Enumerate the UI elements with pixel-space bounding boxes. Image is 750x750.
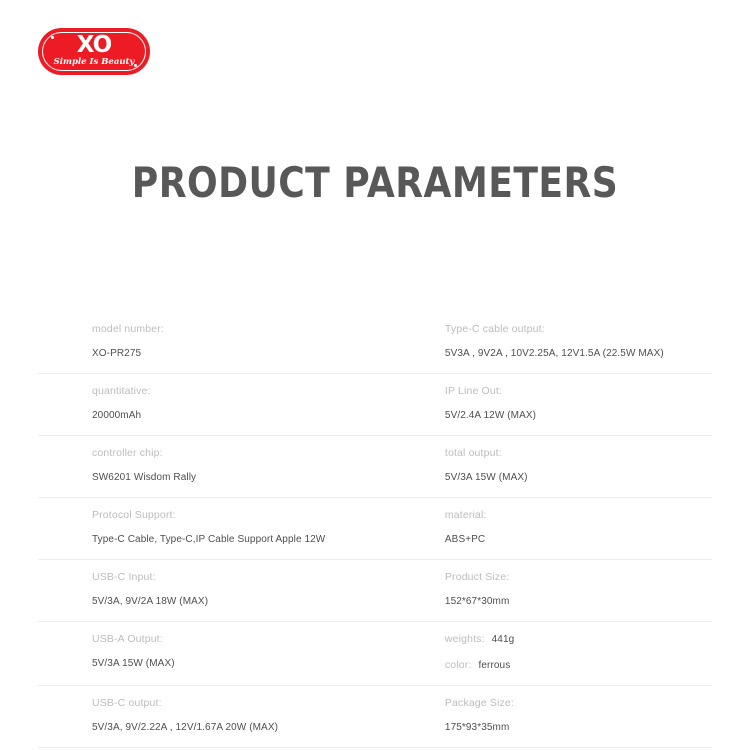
spec-cell-right: weights:441gcolor:ferrous: [429, 622, 712, 685]
spec-value: ABS+PC: [445, 532, 712, 547]
spec-value: 5V/3A, 9V/2A 18W (MAX): [92, 594, 429, 609]
spec-label: quantitative:: [92, 384, 429, 399]
spec-cell-left: Protocol Support:Type-C Cable, Type-C,IP…: [38, 498, 429, 559]
spec-value: 5V/2.4A 12W (MAX): [445, 408, 712, 423]
logo-tagline: Simple Is Beauty: [38, 57, 150, 67]
spec-value: XO-PR275: [92, 346, 429, 361]
spec-cell-left: quantitative:20000mAh: [38, 374, 429, 435]
spec-cell-left: controller chip:SW6201 Wisdom Rally: [38, 436, 429, 497]
spec-label: weights:: [445, 632, 485, 646]
spec-value: 5V/3A, 9V/2.22A , 12V/1.67A 20W (MAX): [92, 720, 429, 735]
spec-cell-right: Type-C cable output:5V3A , 9V2A , 10V2.2…: [429, 312, 712, 373]
spec-cell-right: material:ABS+PC: [429, 498, 712, 559]
spec-value: Type-C Cable, Type-C,IP Cable Support Ap…: [92, 532, 429, 547]
spec-cell-left: model number:XO-PR275: [38, 312, 429, 373]
logo-wordmark: XO: [38, 34, 150, 57]
spec-label: Product Size:: [445, 570, 712, 585]
spec-row: USB-C output:5V/3A, 9V/2.22A , 12V/1.67A…: [38, 685, 712, 747]
spec-cell-left: USB-A Output:5V/3A 15W (MAX): [38, 622, 429, 685]
spec-label: material:: [445, 508, 712, 523]
spec-label: controller chip:: [92, 446, 429, 461]
spec-value: 20000mAh: [92, 408, 429, 423]
brand-logo: XO Simple Is Beauty: [38, 28, 150, 75]
spec-row: quantitative:20000mAhIP Line Out:5V/2.4A…: [38, 373, 712, 435]
spec-label: color:: [445, 658, 472, 672]
spec-label: USB-A Output:: [92, 632, 429, 647]
spec-label: total output:: [445, 446, 712, 461]
spec-value: 5V3A , 9V2A , 10V2.25A, 12V1.5A (22.5W M…: [445, 346, 712, 361]
spec-label: Type-C cable output:: [445, 322, 712, 337]
spec-label: Protocol Support:: [92, 508, 429, 523]
specification-table: model number:XO-PR275Type-C cable output…: [38, 312, 712, 748]
spec-label: model number:: [92, 322, 429, 337]
spec-value: 175*93*35mm: [445, 720, 712, 735]
page-title: PRODUCT PARAMETERS: [53, 158, 698, 207]
spec-value: SW6201 Wisdom Rally: [92, 470, 429, 485]
spec-value: 441g: [492, 633, 515, 647]
spec-label: IP Line Out:: [445, 384, 712, 399]
spec-inline-pair: weights:441g: [445, 632, 712, 647]
spec-value: 5V/3A 15W (MAX): [445, 470, 712, 485]
spec-cell-right: Product Size:152*67*30mm: [429, 560, 712, 621]
spec-cell-right: Package Size:175*93*35mm: [429, 686, 712, 747]
spec-row: model number:XO-PR275Type-C cable output…: [38, 312, 712, 373]
spec-cell-left: USB-C Input:5V/3A, 9V/2A 18W (MAX): [38, 560, 429, 621]
spec-cell-right: total output:5V/3A 15W (MAX): [429, 436, 712, 497]
spec-row: Protocol Support:Type-C Cable, Type-C,IP…: [38, 497, 712, 559]
spec-row: USB-A Output:5V/3A 15W (MAX)weights:441g…: [38, 621, 712, 685]
spec-label: USB-C Input:: [92, 570, 429, 585]
spec-label: USB-C output:: [92, 696, 429, 711]
spec-row: controller chip:SW6201 Wisdom Rallytotal…: [38, 435, 712, 497]
spec-cell-left: USB-C output:5V/3A, 9V/2.22A , 12V/1.67A…: [38, 686, 429, 747]
spec-inline-pair: color:ferrous: [445, 658, 712, 673]
spec-cell-right: IP Line Out:5V/2.4A 12W (MAX): [429, 374, 712, 435]
spec-row: USB-C Input:5V/3A, 9V/2A 18W (MAX)Produc…: [38, 559, 712, 621]
table-bottom-divider: [38, 747, 712, 748]
spec-label: Package Size:: [445, 696, 712, 711]
spec-value: 152*67*30mm: [445, 594, 712, 609]
spec-value: ferrous: [478, 659, 510, 673]
spec-value: 5V/3A 15W (MAX): [92, 656, 429, 671]
